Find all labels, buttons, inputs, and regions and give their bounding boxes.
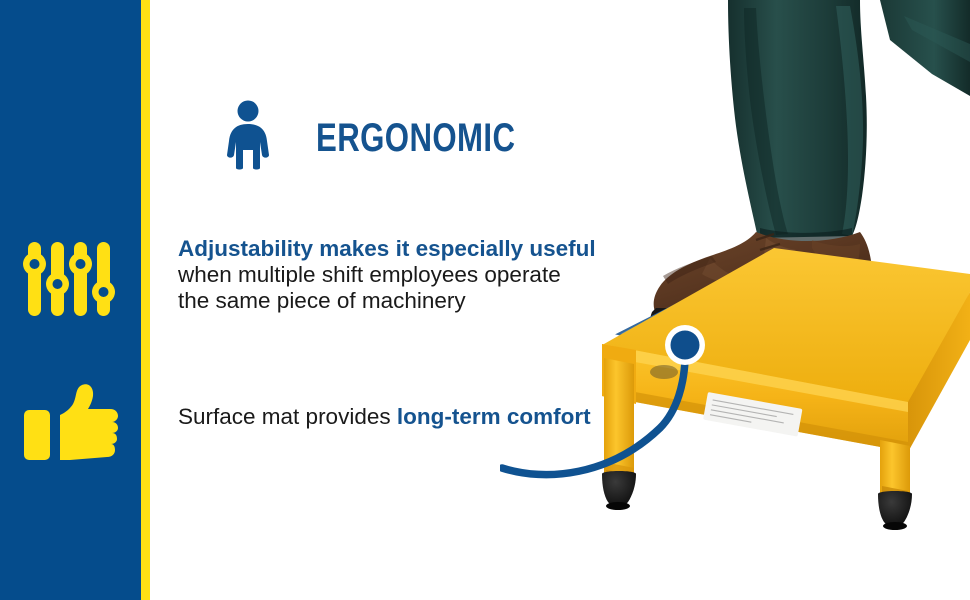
sliders-icon [21, 240, 121, 323]
feature-one: Adjustability makes it especially useful… [178, 236, 608, 314]
rubber-foot-right [878, 491, 912, 530]
person-icon [222, 100, 274, 175]
thumbs-up-icon [22, 382, 120, 471]
feature-one-line-two: when multiple shift employees operate [178, 262, 608, 288]
feature-two: Surface mat provides long-term comfort [178, 404, 608, 430]
feature-panel: ERGONOMIC Adjustability makes it especia… [0, 0, 970, 600]
page-title: ERGONOMIC [316, 118, 515, 158]
telescoping-leg [604, 358, 634, 482]
product-photo [560, 0, 970, 600]
pant-leg-rear [880, 0, 970, 96]
section-header: ERGONOMIC [222, 100, 572, 175]
feature-one-line-three: the same piece of machinery [178, 288, 608, 314]
feature-two-prefix: Surface mat provides [178, 404, 397, 429]
accent-stripe [141, 0, 150, 600]
rubber-foot-left [602, 471, 636, 510]
feature-two-text: Surface mat provides long-term comfort [178, 404, 608, 430]
feature-one-lead: Adjustability makes it especially useful [178, 236, 608, 262]
stool-frame [602, 248, 970, 500]
sidebar-item-comfort[interactable] [0, 378, 141, 474]
sidebar-item-adjustable[interactable] [0, 238, 141, 324]
pant-leg [728, 0, 867, 241]
